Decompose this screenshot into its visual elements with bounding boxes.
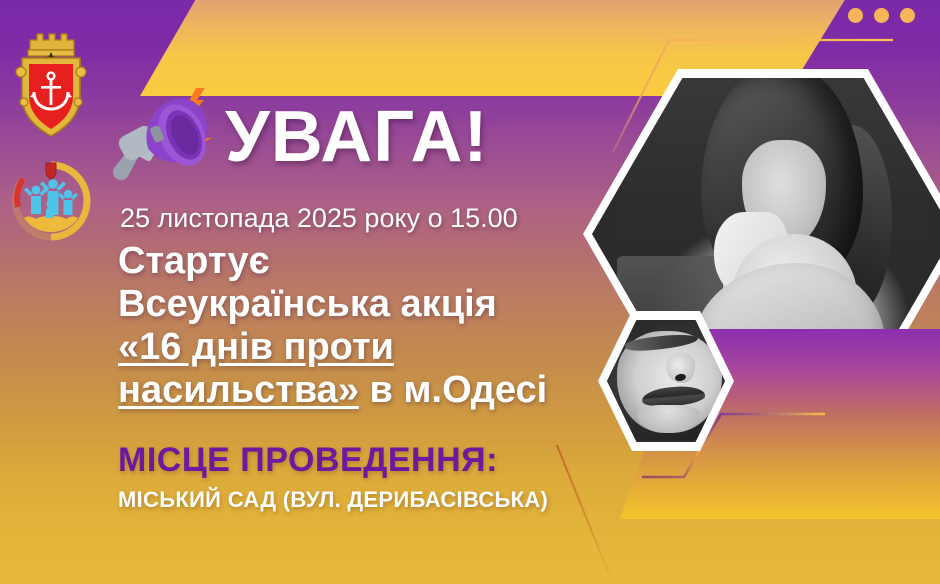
dot-1 [848,8,863,23]
page-title: УВАГА! [225,101,488,173]
dot-3 [900,8,915,23]
odesa-coat-of-arms [8,24,94,144]
announcement-line-2: Всеукраїнська акція [118,283,598,326]
place-label: МІСЦЕ ПРОВЕДЕННЯ: [118,441,498,480]
announcement-line-1: Стартує [118,240,598,283]
social-services-logo [10,160,92,242]
dot-2 [874,8,889,23]
event-date-time: 25 листопада 2025 року о 15.00 [120,203,518,234]
announcement-line-3: «16 днів проти [118,326,394,368]
poster-canvas: УВАГА! 25 листопада 2025 року о 15.00 Ст… [0,0,940,584]
bruised-face-closeup-photo [607,322,725,440]
place-value: МІСЬКИЙ САД (ВУЛ. ДЕРИБАСІВСЬКА) [118,487,548,513]
announcement-line-4: насильства» [118,369,359,411]
announcement-line-5: в м.Одесі [359,369,547,411]
decorative-dots [848,8,915,23]
diagonal-line-decoration [556,445,614,584]
megaphone-icon [112,86,240,194]
announcement-text: Стартує Всеукраїнська акція «16 днів про… [118,240,598,412]
